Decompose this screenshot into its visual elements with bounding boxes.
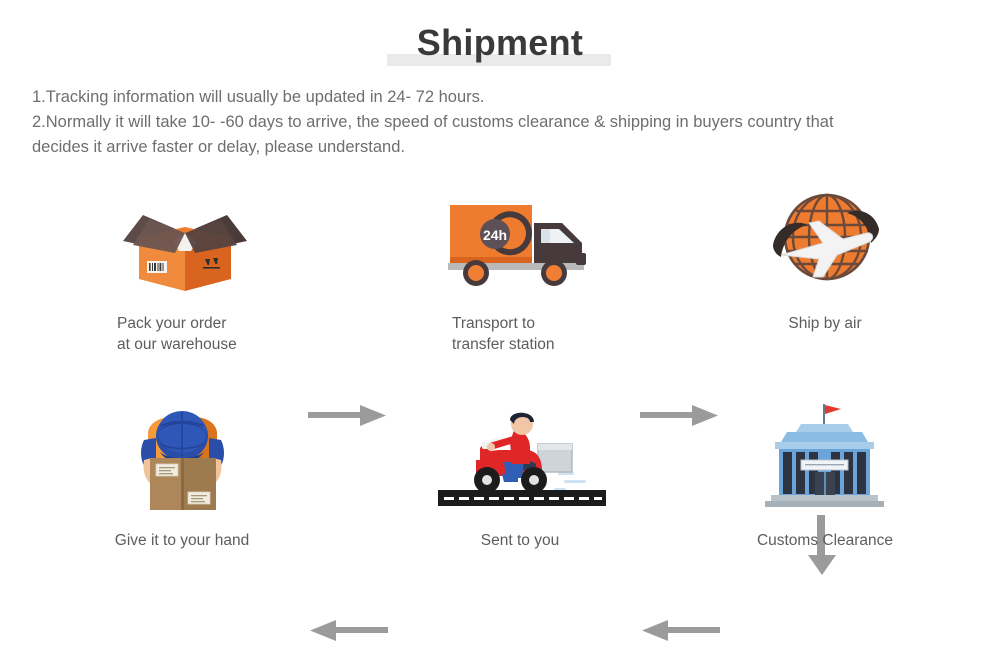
flow-step-caption: Give it to your hand [62, 530, 302, 551]
note-line-3: decides it arrive faster or delay, pleas… [32, 135, 962, 160]
arrow-left-icon [308, 618, 388, 649]
page-title: Shipment [0, 22, 1000, 64]
caption-line-1: Transport to [452, 313, 640, 334]
flow-step-air: Ship by air [705, 183, 945, 334]
caption-line-1: Give it to your hand [62, 530, 302, 551]
delivery-scooter-icon [420, 400, 620, 518]
truck-24h-badge-text: 24h [483, 227, 507, 243]
shipping-notes: 1.Tracking information will usually be u… [32, 85, 962, 160]
caption-line-2: at our warehouse [117, 334, 305, 355]
flow-step-pack: Pack your order at our warehouse [65, 183, 305, 355]
arrow-left-icon [640, 618, 720, 649]
flow-step-caption: Customs Clearance [705, 530, 945, 551]
caption-line-1: Ship by air [705, 313, 945, 334]
caption-line-1: Customs Clearance [705, 530, 945, 551]
globe-airplane-icon [725, 183, 925, 301]
page-header: Shipment [0, 14, 1000, 70]
note-line-1: 1.Tracking information will usually be u… [32, 85, 962, 110]
caption-line-1: Pack your order [117, 313, 305, 334]
note-line-2: 2.Normally it will take 10- -60 days to … [32, 110, 962, 135]
delivery-person-box-icon [82, 400, 282, 518]
delivery-truck-24h-icon: 24h [420, 183, 620, 301]
shipment-flow-diagram: Pack your order at our warehouse [0, 175, 1000, 560]
arrow-right-icon [308, 403, 388, 434]
flow-step-caption: Ship by air [705, 313, 945, 334]
flow-step-sent: Sent to you [400, 400, 640, 551]
caption-line-1: Sent to you [400, 530, 640, 551]
flow-step-hand: Give it to your hand [62, 400, 302, 551]
caption-line-2: transfer station [452, 334, 640, 355]
flow-step-caption: Transport to transfer station [400, 313, 640, 355]
flow-step-customs: Customs Clearance [705, 400, 945, 551]
flow-step-caption: Sent to you [400, 530, 640, 551]
flow-step-transport: 24h Transport to transfer station [400, 183, 640, 355]
open-box-icon [85, 183, 285, 301]
flow-step-caption: Pack your order at our warehouse [65, 313, 305, 355]
customs-building-icon [725, 400, 925, 518]
